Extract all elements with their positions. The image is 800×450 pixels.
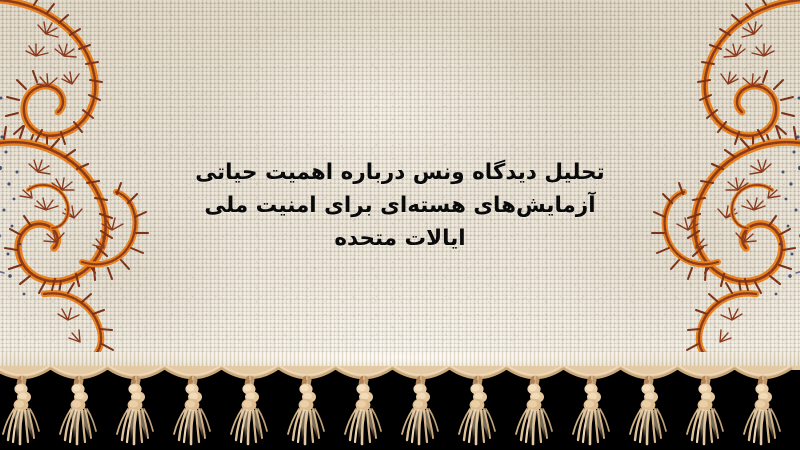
tassel-row bbox=[0, 366, 792, 444]
tassel bbox=[164, 366, 222, 444]
textile-banner: تحلیل دیدگاه ونس درباره اهمیت حیاتی آزما… bbox=[0, 0, 800, 450]
tassel bbox=[563, 366, 621, 444]
fabric-panel: تحلیل دیدگاه ونس درباره اهمیت حیاتی آزما… bbox=[0, 0, 800, 374]
headline-line-3: ایالات متحده bbox=[165, 222, 635, 255]
headline-line-1: تحلیل دیدگاه ونس درباره اهمیت حیاتی bbox=[165, 156, 635, 189]
tassel bbox=[0, 366, 51, 444]
tassel bbox=[50, 366, 108, 444]
tassel bbox=[335, 366, 393, 444]
tassel bbox=[449, 366, 507, 444]
tassel bbox=[734, 366, 792, 444]
tassel bbox=[278, 366, 336, 444]
tassel bbox=[107, 366, 165, 444]
tassel bbox=[506, 366, 564, 444]
tassel bbox=[392, 366, 450, 444]
headline-line-2: آزمایش‌های هسته‌ای برای امنیت ملی bbox=[165, 189, 635, 222]
tassel bbox=[620, 366, 678, 444]
tassel bbox=[677, 366, 735, 444]
tassel-fringe-band bbox=[0, 366, 800, 450]
headline-text: تحلیل دیدگاه ونس درباره اهمیت حیاتی آزما… bbox=[165, 156, 635, 255]
tassel-fringe-svg bbox=[0, 366, 800, 450]
tassel bbox=[221, 366, 279, 444]
